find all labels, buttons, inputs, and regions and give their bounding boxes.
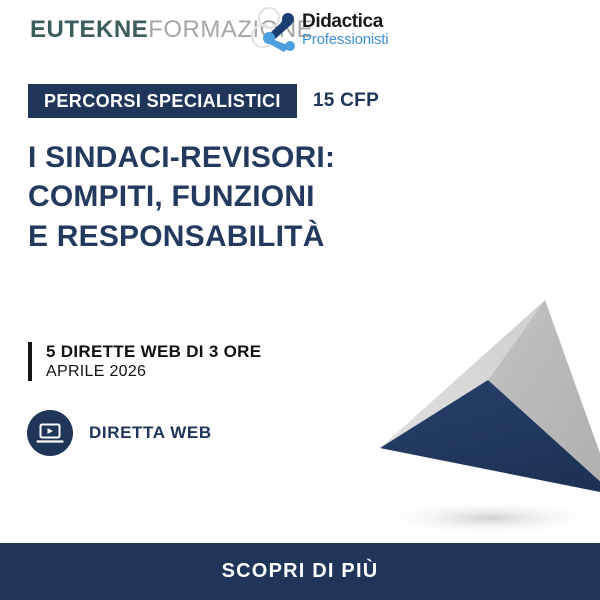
delivery-mode-label: DIRETTA WEB: [89, 423, 212, 443]
laptop-play-icon: [27, 410, 73, 456]
tetrahedron-graphic: [360, 270, 600, 540]
laptop-play-glyph: [36, 421, 64, 445]
course-title-line-3: E RESPONSABILITÀ: [28, 217, 428, 256]
course-promo-banner: EUTEKNEFORMAZIONE Didactica Professionis…: [0, 0, 600, 600]
schedule-block: 5 DIRETTE WEB DI 3 ORE APRILE 2026: [28, 342, 261, 381]
didactica-subtitle: Professionisti: [302, 32, 388, 47]
eutekne-wordmark: EUTEKNE: [30, 16, 148, 43]
didactica-name: Didactica: [302, 12, 388, 31]
badge-row: PERCORSI SPECIALISTICI 15 CFP: [28, 84, 379, 118]
category-badge: PERCORSI SPECIALISTICI: [28, 84, 297, 118]
didactica-node-logo-icon: [250, 6, 306, 54]
schedule-sessions: 5 DIRETTE WEB DI 3 ORE: [46, 342, 261, 361]
cta-label: SCOPRI DI PIÙ: [222, 560, 379, 583]
didactica-professionisti-logo[interactable]: Didactica Professionisti: [250, 6, 390, 56]
banner-header: EUTEKNEFORMAZIONE Didactica Professionis…: [0, 0, 600, 62]
course-title-line-2: COMPITI, FUNZIONI: [28, 177, 428, 216]
schedule-period: APRILE 2026: [46, 363, 261, 381]
course-title: I SINDACI-REVISORI: COMPITI, FUNZIONI E …: [28, 138, 428, 256]
delivery-mode-row: DIRETTA WEB: [27, 410, 212, 456]
course-title-line-1: I SINDACI-REVISORI:: [28, 138, 428, 177]
pyramid-shadow: [375, 500, 600, 536]
didactica-wordmark-block: Didactica Professionisti: [302, 12, 388, 47]
cta-button[interactable]: SCOPRI DI PIÙ: [0, 543, 600, 600]
credits-label: 15 CFP: [313, 90, 379, 112]
